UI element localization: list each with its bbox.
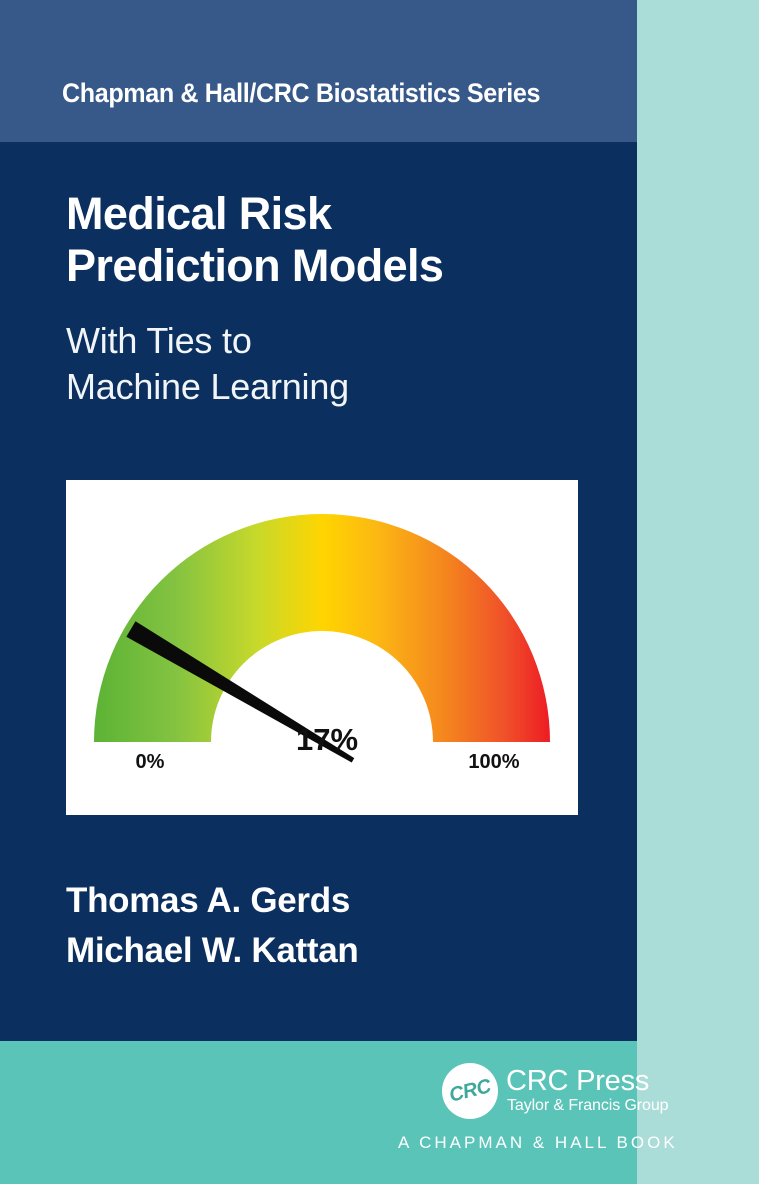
gauge-min-label: 0% <box>136 751 165 773</box>
author-list: Thomas A. Gerds Michael W. Kattan <box>66 876 358 976</box>
risk-gauge-chart: 0% 100% 17% <box>66 480 578 815</box>
gauge-max-label: 100% <box>468 751 519 773</box>
publisher-name: CRC Press <box>506 1065 649 1098</box>
series-band <box>0 0 637 142</box>
author-name: Michael W. Kattan <box>66 926 358 976</box>
publisher-footer: CRC CRC Press Taylor & Francis Group A C… <box>0 1041 637 1184</box>
subtitle-line-2: Machine Learning <box>66 364 606 410</box>
publisher-group: Taylor & Francis Group <box>507 1097 668 1115</box>
imprint-label: A CHAPMAN & HALL BOOK <box>398 1133 678 1153</box>
page-subtitle: With Ties to Machine Learning <box>66 318 606 410</box>
gauge-value-label: 17% <box>296 722 358 757</box>
crc-monogram: CRC <box>436 1057 504 1125</box>
book-cover: Chapman & Hall/CRC Biostatistics Series … <box>0 0 759 1184</box>
title-line-2: Prediction Models <box>66 240 606 292</box>
title-line-1: Medical Risk <box>66 188 606 240</box>
crc-press-logo: CRC CRC Press Taylor & Francis Group <box>442 1063 632 1129</box>
gauge-figure: 0% 100% 17% <box>66 480 578 815</box>
page-title: Medical Risk Prediction Models <box>66 188 606 292</box>
author-name: Thomas A. Gerds <box>66 876 358 926</box>
gauge-arc <box>94 514 550 742</box>
series-label: Chapman & Hall/CRC Biostatistics Series <box>62 78 540 109</box>
front-cover-panel: Chapman & Hall/CRC Biostatistics Series … <box>0 0 637 1184</box>
subtitle-line-1: With Ties to <box>66 318 606 364</box>
